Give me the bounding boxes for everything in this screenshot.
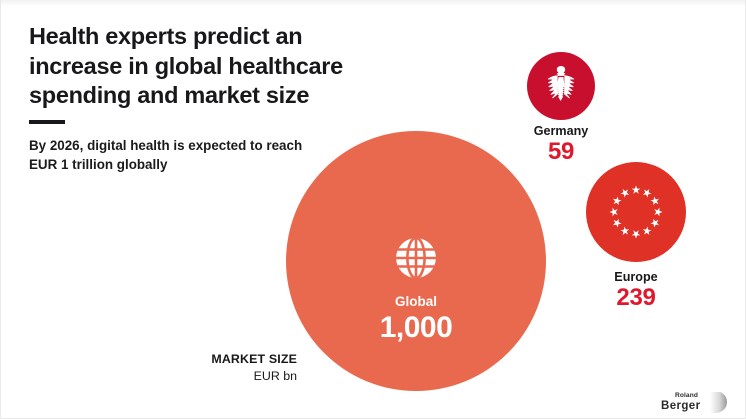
bubble-europe-value: 239 <box>581 285 691 312</box>
bubble-germany-caption: Germany 59 <box>506 124 616 166</box>
bubble-global-label: Global <box>286 295 546 310</box>
top-edge-shading <box>1 0 746 6</box>
bubble-germany-label: Germany <box>506 124 616 139</box>
eu-stars-icon <box>605 181 667 243</box>
infographic-canvas: Health experts predict an increase in gl… <box>0 0 746 419</box>
title-divider-rule <box>29 120 65 124</box>
logo-word-roland: Roland <box>675 392 698 399</box>
bubble-global-value: 1,000 <box>286 312 546 344</box>
market-size-caption: MARKET SIZE EUR bn <box>119 352 297 384</box>
roland-berger-logo: Roland Berger <box>661 392 733 419</box>
page-subtitle: By 2026, digital health is expected to r… <box>29 136 329 174</box>
page-title: Health experts predict an increase in gl… <box>29 22 389 111</box>
globe-icon <box>393 235 439 281</box>
bubble-germany-value: 59 <box>506 139 616 166</box>
bubble-europe <box>586 162 686 262</box>
bubble-europe-label: Europe <box>581 270 691 285</box>
bubble-europe-caption: Europe 239 <box>581 270 691 312</box>
bubble-germany <box>527 52 595 120</box>
market-size-unit: EUR bn <box>119 368 297 385</box>
bubble-global-content: Global 1,000 <box>286 235 546 344</box>
market-size-label: MARKET SIZE <box>119 352 297 368</box>
bubble-global: Global 1,000 <box>286 131 546 391</box>
german-eagle-icon <box>536 61 586 111</box>
logo-word-berger: Berger <box>661 400 700 412</box>
logo-mark-icon <box>709 392 728 416</box>
